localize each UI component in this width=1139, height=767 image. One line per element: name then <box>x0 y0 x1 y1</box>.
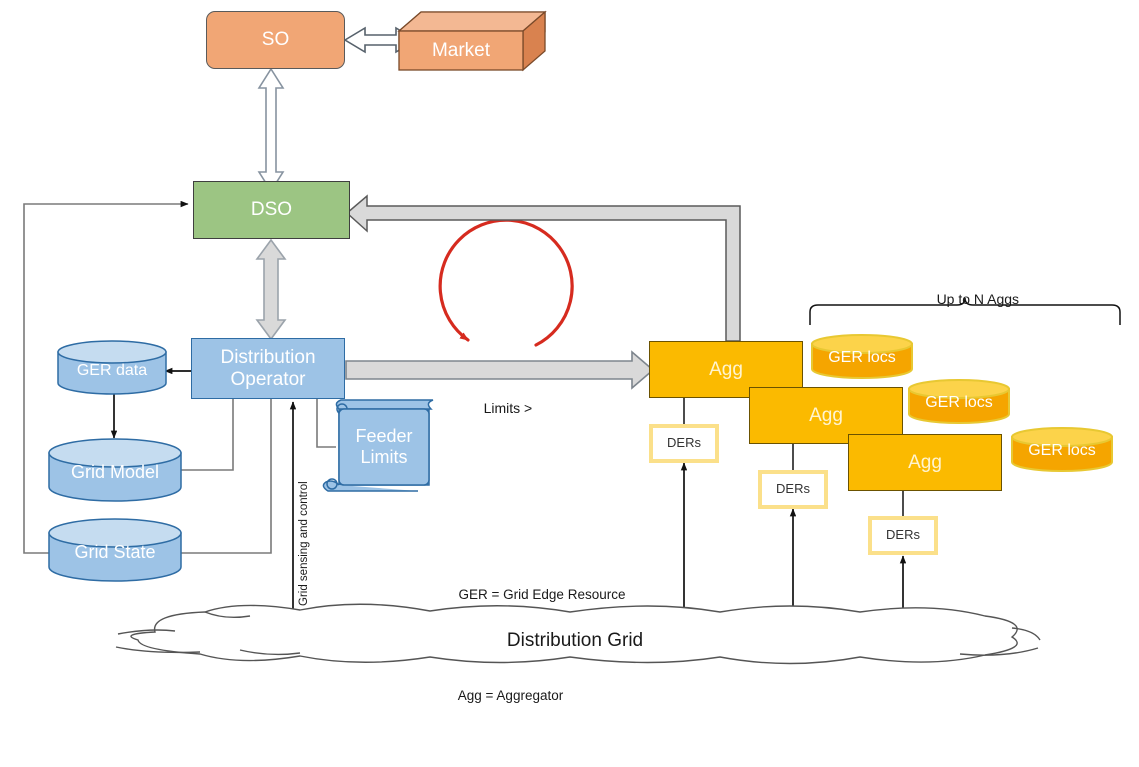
agg-box-3[interactable]: Agg <box>848 434 1002 491</box>
ders-label-1: DERs <box>667 436 701 451</box>
up-to-n-aggs-text: Up to N Aggs <box>937 291 1020 307</box>
agg-label-1: Agg <box>709 359 743 381</box>
agg-label-2: Agg <box>809 405 843 427</box>
feeder-limits-label: Feeder Limits <box>339 409 429 485</box>
so-label: SO <box>262 29 289 51</box>
limits-arrow-label: Limits > <box>468 384 532 432</box>
ders-label-3: DERs <box>886 528 920 543</box>
limits-arrow-text: Limits > <box>484 400 533 416</box>
so-box[interactable]: SO <box>206 11 345 69</box>
grid-sensing-and-control-label: Grid sensing and control <box>298 481 310 606</box>
distribution-grid-text: Distribution Grid <box>507 630 643 652</box>
ders-label-2: DERs <box>776 482 810 497</box>
legend-ger-text: GER = Grid Edge Resource <box>459 587 626 602</box>
ders-box-2[interactable]: DERs <box>758 470 828 509</box>
distribution-operator-line2: Operator <box>231 369 306 391</box>
distribution-operator-line1: Distribution <box>220 347 315 369</box>
legend-line-agg: Agg = Aggregator <box>436 666 625 727</box>
diagram-canvas: GER data Grid Model Grid State Market <box>0 0 1139 684</box>
grid-sensing-and-control-text: Grid sensing and control <box>298 481 310 606</box>
agg-label-3: Agg <box>908 452 942 474</box>
legend-line-ger: GER = Grid Edge Resource <box>436 565 625 626</box>
up-to-n-aggs-label: Up to N Aggs <box>921 275 1019 323</box>
distribution-grid-label: Distribution Grid <box>430 628 720 654</box>
distribution-operator-box[interactable]: Distribution Operator <box>191 338 345 399</box>
dso-label: DSO <box>251 199 292 221</box>
feeder-limits-line1: Feeder <box>355 426 412 447</box>
legend-agg-text: Agg = Aggregator <box>458 688 563 703</box>
feeder-limits-line2: Limits <box>360 447 407 468</box>
dso-box[interactable]: DSO <box>193 181 350 239</box>
ders-box-1[interactable]: DERs <box>649 424 719 463</box>
ders-box-3[interactable]: DERs <box>868 516 938 555</box>
